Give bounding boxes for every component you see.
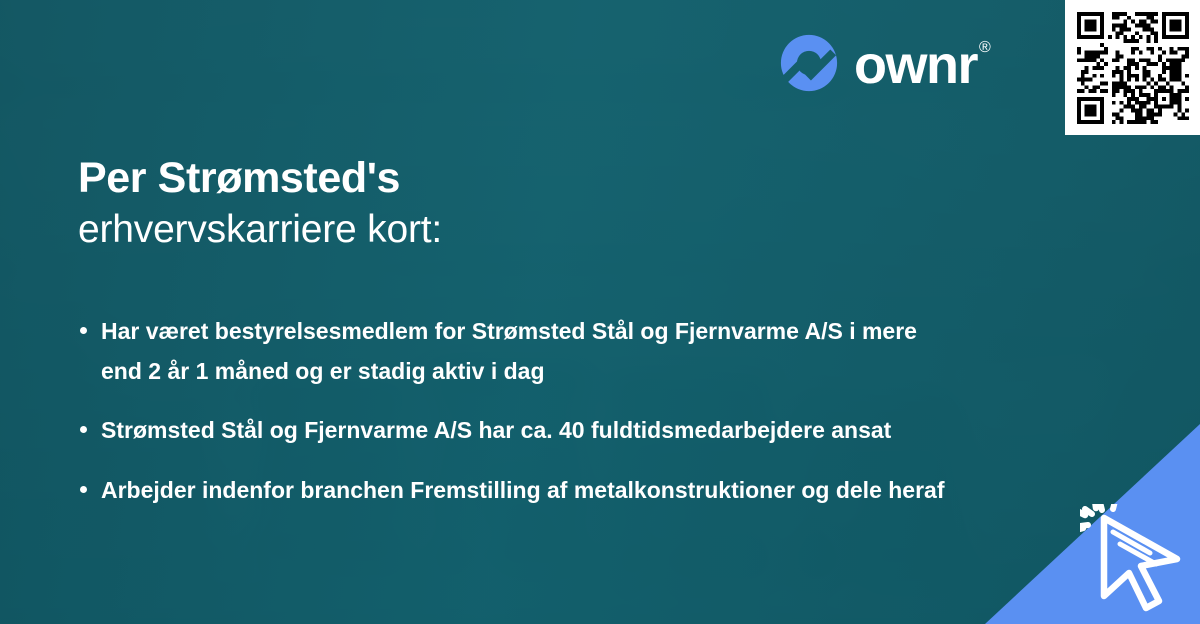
brand-name-text: ownr xyxy=(854,35,977,95)
ownr-career-card: ownr® Per Strømsted's erhvervskarriere k… xyxy=(0,0,1200,624)
page-title: Per Strømsted's erhvervskarriere kort: xyxy=(78,154,442,253)
registered-mark: ® xyxy=(979,39,991,56)
list-item-text: Strømsted Stål og Fjernvarme A/S har ca.… xyxy=(101,417,891,443)
ownr-wordmark: ownr® xyxy=(854,38,989,92)
career-facts-list: Har været bestyrelsesmedlem for Strømste… xyxy=(78,312,978,510)
ownr-circle-swirl-icon xyxy=(778,32,840,94)
ownr-logo[interactable]: ownr® xyxy=(778,32,989,94)
click-cursor-icon xyxy=(1080,504,1196,620)
bullet-dot-icon xyxy=(80,327,87,334)
list-item-text: Har været bestyrelsesmedlem for Strømste… xyxy=(101,318,917,384)
qr-code[interactable] xyxy=(1065,0,1200,135)
list-item-text: Arbejder indenfor branchen Fremstilling … xyxy=(101,477,945,503)
bullet-dot-icon xyxy=(80,426,87,433)
bullet-dot-icon xyxy=(80,486,87,493)
list-item: Har været bestyrelsesmedlem for Strømste… xyxy=(78,312,961,391)
list-item: Arbejder indenfor branchen Fremstilling … xyxy=(78,471,961,511)
list-item: Strømsted Stål og Fjernvarme A/S har ca.… xyxy=(78,411,961,451)
qr-code-canvas xyxy=(1077,12,1189,124)
headline-line-2: erhvervskarriere kort: xyxy=(78,207,442,253)
headline-line-1: Per Strømsted's xyxy=(78,154,442,203)
